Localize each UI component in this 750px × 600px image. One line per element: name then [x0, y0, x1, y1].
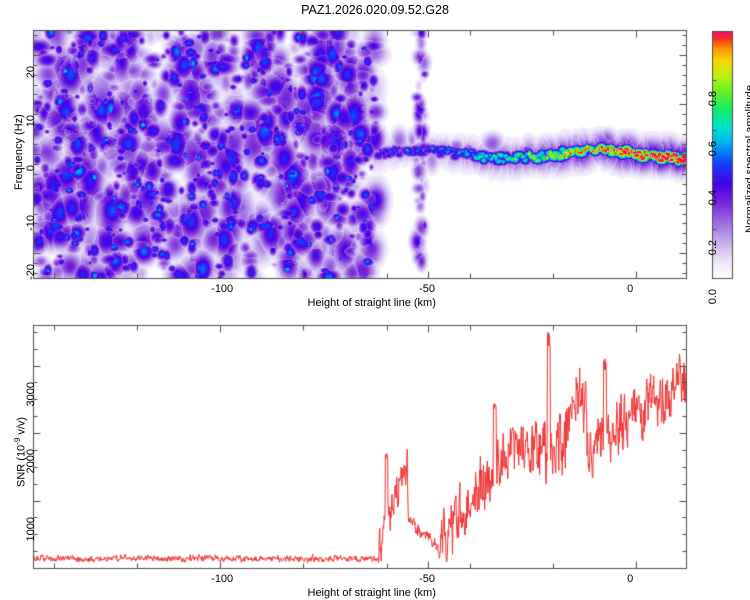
colorbar-label: Normalized spectral amplitude: [745, 85, 750, 233]
figure-title: PAZ1.2026.020.09.52.G28: [0, 3, 750, 17]
snr-label-suffix: v/v): [16, 416, 28, 437]
bottom-ytick-0: 1000: [26, 517, 37, 541]
top-xtick-1: -50: [419, 284, 435, 295]
top-xtick-0: -100: [211, 284, 233, 295]
bottom-xtick-0: -100: [211, 574, 233, 585]
bottom-xtick-2: 0: [627, 574, 633, 585]
top-ytick-2: 0: [26, 165, 37, 171]
top-ytick-1: -10: [26, 215, 37, 231]
bottom-xtick-1: -50: [419, 574, 435, 585]
top-axis-x-label: Height of straight line (km): [308, 298, 436, 309]
top-xtick-2: 0: [627, 284, 633, 295]
colorbar-tick-1: 0.2: [708, 240, 719, 255]
colorbar-tick-3: 0.6: [708, 141, 719, 156]
snr-label-exponent: -9: [13, 437, 22, 444]
figure-root: PAZ1.2026.020.09.52.G28 Frequency (Hz) H…: [0, 0, 750, 600]
colorbar-tick-2: 0.4: [708, 190, 719, 205]
bottom-ytick-1: 2000: [26, 449, 37, 473]
bottom-axis-x-label: Height of straight line (km): [308, 588, 436, 599]
colorbar-tick-0: 0.0: [708, 289, 719, 304]
top-ytick-3: 10: [26, 115, 37, 127]
top-ytick-4: 20: [26, 66, 37, 78]
bottom-ytick-2: 3000: [26, 382, 37, 406]
top-ytick-0: -20: [26, 264, 37, 280]
colorbar-tick-4: 0.8: [708, 91, 719, 106]
top-axis-y-label: Frequency (Hz): [14, 114, 25, 190]
